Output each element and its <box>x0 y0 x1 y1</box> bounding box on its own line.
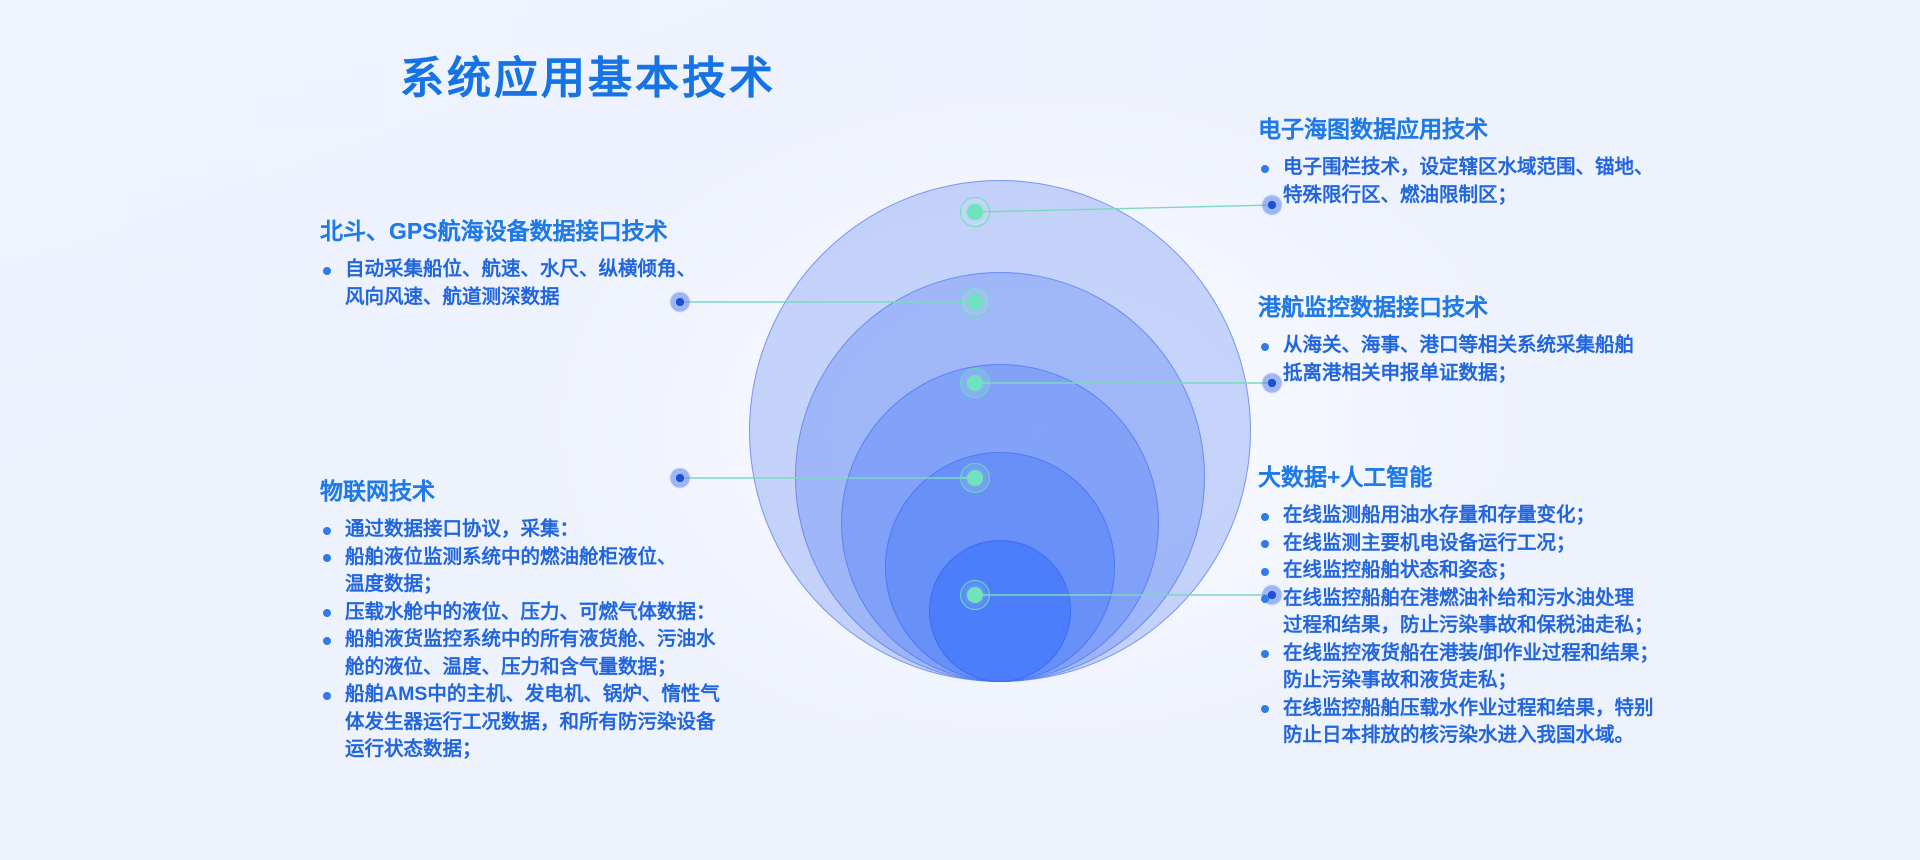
list-item: 船舶液货监控系统中的所有液货舱、污油水 舱的液位、温度、压力和含气量数据； <box>320 626 820 681</box>
section-title-beidou-gps: 北斗、GPS航海设备数据接口技术 <box>320 212 780 246</box>
node-bigdata-ai[interactable] <box>960 580 990 610</box>
page-title: 系统应用基本技术 <box>400 42 776 106</box>
list-item: 自动采集船位、航速、水尺、纵横倾角、 风向风速、航道测深数据 <box>320 256 780 311</box>
section-title-iot: 物联网技术 <box>320 472 820 506</box>
node-iot[interactable] <box>960 463 990 493</box>
node-enc-chart[interactable] <box>960 197 990 227</box>
bullet-list-beidou-gps: 自动采集船位、航速、水尺、纵横倾角、 风向风速、航道测深数据 <box>320 256 780 311</box>
section-title-port-nav: 港航监控数据接口技术 <box>1258 288 1778 322</box>
node-port-nav[interactable] <box>960 368 990 398</box>
list-item: 在线监控液货船在港装/卸作业过程和结果； 防止污染事故和液货走私； <box>1258 640 1778 695</box>
list-item: 通过数据接口协议，采集： <box>320 516 820 544</box>
node-beidou-gps[interactable] <box>960 287 990 317</box>
list-item: 电子围栏技术，设定辖区水域范围、锚地、 特殊限行区、燃油限制区； <box>1258 154 1778 209</box>
list-item: 船舶AMS中的主机、发电机、锅炉、惰性气 体发生器运行工况数据，和所有防污染设备… <box>320 681 820 764</box>
bullet-list-iot: 通过数据接口协议，采集： 船舶液位监测系统中的燃油舱柜液位、 温度数据； 压载水… <box>320 516 820 764</box>
section-beidou-gps: 北斗、GPS航海设备数据接口技术 自动采集船位、航速、水尺、纵横倾角、 风向风速… <box>320 212 780 313</box>
list-item: 从海关、海事、港口等相关系统采集船舶 抵离港相关申报单证数据； <box>1258 332 1778 387</box>
bullet-list-enc-chart: 电子围栏技术，设定辖区水域范围、锚地、 特殊限行区、燃油限制区； <box>1258 154 1778 209</box>
list-item: 在线监控船舶压载水作业过程和结果，特别 防止日本排放的核污染水进入我国水域。 <box>1258 695 1778 750</box>
list-item: 在线监控船舶在港燃油补给和污水油处理 过程和结果，防止污染事故和保税油走私； <box>1258 585 1778 640</box>
list-item: 在线监控船舶状态和姿态； <box>1258 557 1778 585</box>
bullet-list-port-nav: 从海关、海事、港口等相关系统采集船舶 抵离港相关申报单证数据； <box>1258 332 1778 387</box>
bullet-list-bigdata-ai: 在线监测船用油水存量和存量变化； 在线监测主要机电设备运行工况； 在线监控船舶状… <box>1258 502 1778 750</box>
section-enc-chart: 电子海图数据应用技术 电子围栏技术，设定辖区水域范围、锚地、 特殊限行区、燃油限… <box>1258 110 1778 211</box>
section-port-nav: 港航监控数据接口技术 从海关、海事、港口等相关系统采集船舶 抵离港相关申报单证数… <box>1258 288 1778 389</box>
infographic-canvas: 系统应用基本技术 北斗、GPS航海设备数据接口技术 自动采集船位、航速、水尺、纵… <box>0 0 1920 860</box>
list-item: 船舶液位监测系统中的燃油舱柜液位、 温度数据； <box>320 544 820 599</box>
list-item: 在线监测主要机电设备运行工况； <box>1258 530 1778 558</box>
section-bigdata-ai: 大数据+人工智能 在线监测船用油水存量和存量变化； 在线监测主要机电设备运行工况… <box>1258 458 1778 750</box>
ring-core-5 <box>929 540 1071 682</box>
section-title-enc-chart: 电子海图数据应用技术 <box>1258 110 1778 144</box>
section-iot: 物联网技术 通过数据接口协议，采集： 船舶液位监测系统中的燃油舱柜液位、 温度数… <box>320 472 820 764</box>
list-item: 在线监测船用油水存量和存量变化； <box>1258 502 1778 530</box>
concentric-rings-graphic <box>745 172 1255 682</box>
section-title-bigdata-ai: 大数据+人工智能 <box>1258 458 1778 492</box>
list-item: 压载水舱中的液位、压力、可燃气体数据： <box>320 599 820 627</box>
